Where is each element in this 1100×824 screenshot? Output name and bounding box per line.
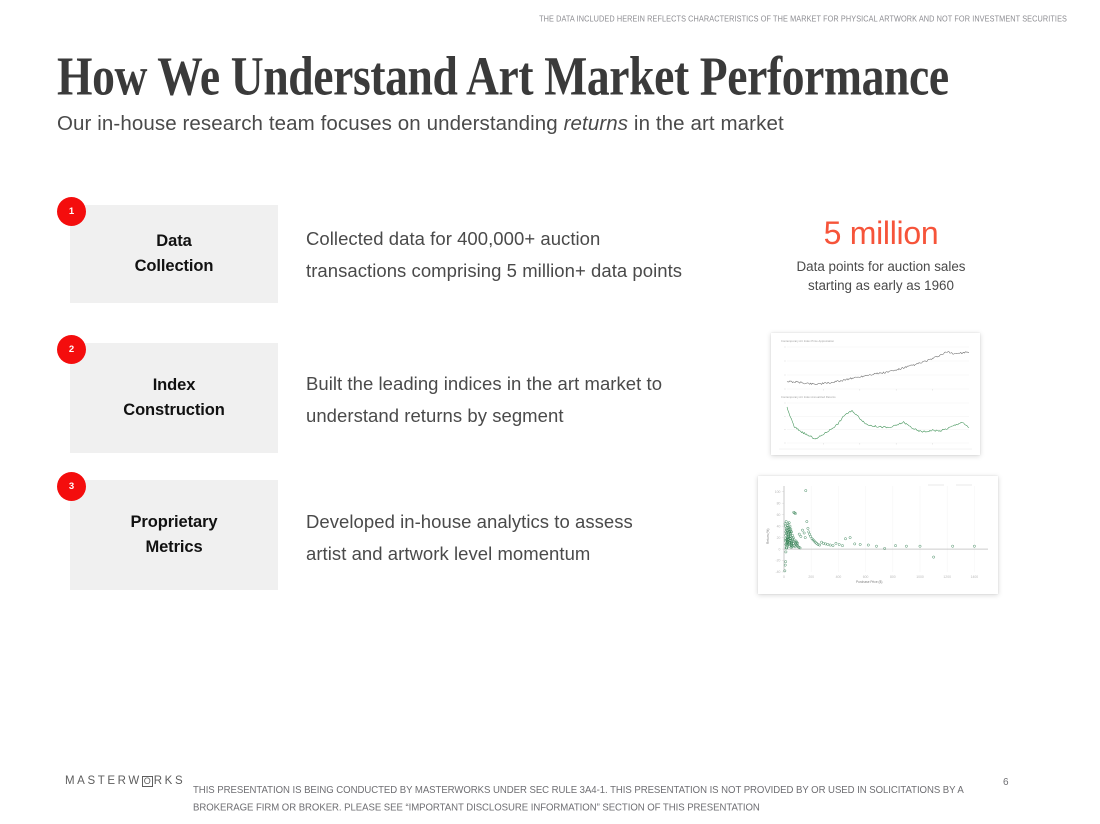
svg-text:1000: 1000 [916,575,924,579]
subtitle-before: Our in-house research team focuses on un… [57,112,564,135]
scatter-y-axis-label: Return (%) [766,529,770,544]
label-line-2: Construction [123,401,224,419]
line-chart-1-title: Contemporary Art Index Price Appreciatio… [781,340,834,343]
svg-text:600: 600 [863,575,869,579]
svg-text:20: 20 [777,536,781,540]
footer-line-2: BROKERAGE FIRM OR BROKER. PLEASE SEE “IM… [193,801,760,813]
svg-text:1200: 1200 [943,575,951,579]
label-box-index-construction: Index Construction [70,343,278,453]
label-box-data-collection: Data Collection [70,205,278,303]
label-line-1: Index [153,376,196,394]
body-line-2: understand returns by segment [306,405,564,426]
stat-caption: Data points for auction sales starting a… [752,257,1010,295]
step-badge-3: 3 [57,472,86,501]
subtitle-emphasis: returns [564,112,629,135]
stat-caption-line-2: starting as early as 1960 [808,278,954,293]
svg-text:1400: 1400 [971,575,979,579]
label-line-2: Collection [135,257,214,275]
logo-text-pre: MASTERW [65,775,142,787]
label-box-proprietary-metrics: Proprietary Metrics [70,480,278,590]
footer-disclaimer: THIS PRESENTATION IS BEING CONDUCTED BY … [193,782,1053,816]
svg-text:0: 0 [783,575,785,579]
top-disclaimer: THE DATA INCLUDED HEREIN REFLECTS CHARAC… [0,13,1067,24]
svg-text:800: 800 [890,575,896,579]
page-number: 6 [1003,777,1009,788]
label-line-1: Proprietary [131,513,218,531]
page-title: How We Understand Art Market Performance [57,44,949,108]
subtitle-after: in the art market [628,112,784,135]
label-box-text: Proprietary Metrics [131,510,218,560]
masterworks-logo: MASTERWORKS [65,775,185,787]
label-box-text: Index Construction [123,373,224,423]
label-line-1: Data [156,232,191,250]
label-line-2: Metrics [145,538,202,556]
body-text-proprietary-metrics: Developed in-house analytics to assess a… [306,506,761,570]
body-line-2: artist and artwork level momentum [306,543,590,564]
body-line-1: Built the leading indices in the art mar… [306,373,662,394]
body-line-1: Collected data for 400,000+ auction [306,228,600,249]
scatter-x-axis-label: Purchase Price ($) [856,580,882,584]
scatter-chart-svg: 0200400600800100012001400100806040200-20… [758,476,998,594]
body-line-1: Developed in-house analytics to assess [306,511,633,532]
scatter-chart-thumbnail[interactable]: 0200400600800100012001400100806040200-20… [758,476,998,594]
logo-boxed-o: O [142,776,153,787]
step-badge-1: 1 [57,197,86,226]
stat-callout: 5 million Data points for auction sales … [752,213,1010,295]
svg-text:400: 400 [836,575,842,579]
svg-text:-40: -40 [775,570,780,574]
svg-text:200: 200 [808,575,814,579]
stat-caption-line-1: Data points for auction sales [797,259,966,274]
step-badge-2: 2 [57,335,86,364]
svg-text:100: 100 [775,490,781,494]
svg-text:60: 60 [777,513,781,517]
line-charts-thumbnail[interactable]: Contemporary Art Index Price Appreciatio… [771,333,980,455]
footer-line-1: THIS PRESENTATION IS BEING CONDUCTED BY … [193,784,964,796]
logo-text-post: RKS [154,775,185,787]
line-charts-svg [771,333,980,455]
svg-text:80: 80 [777,501,781,505]
svg-text:40: 40 [777,524,781,528]
body-text-index-construction: Built the leading indices in the art mar… [306,368,761,432]
body-line-2: transactions comprising 5 million+ data … [306,260,682,281]
stat-value: 5 million [752,213,1010,253]
svg-text:-20: -20 [775,559,780,563]
label-box-text: Data Collection [135,229,214,279]
svg-text:0: 0 [779,547,781,551]
line-chart-2-title: Contemporary Art Index Annualized Return… [781,396,836,399]
page-subtitle: Our in-house research team focuses on un… [57,112,784,136]
body-text-data-collection: Collected data for 400,000+ auction tran… [306,223,761,287]
